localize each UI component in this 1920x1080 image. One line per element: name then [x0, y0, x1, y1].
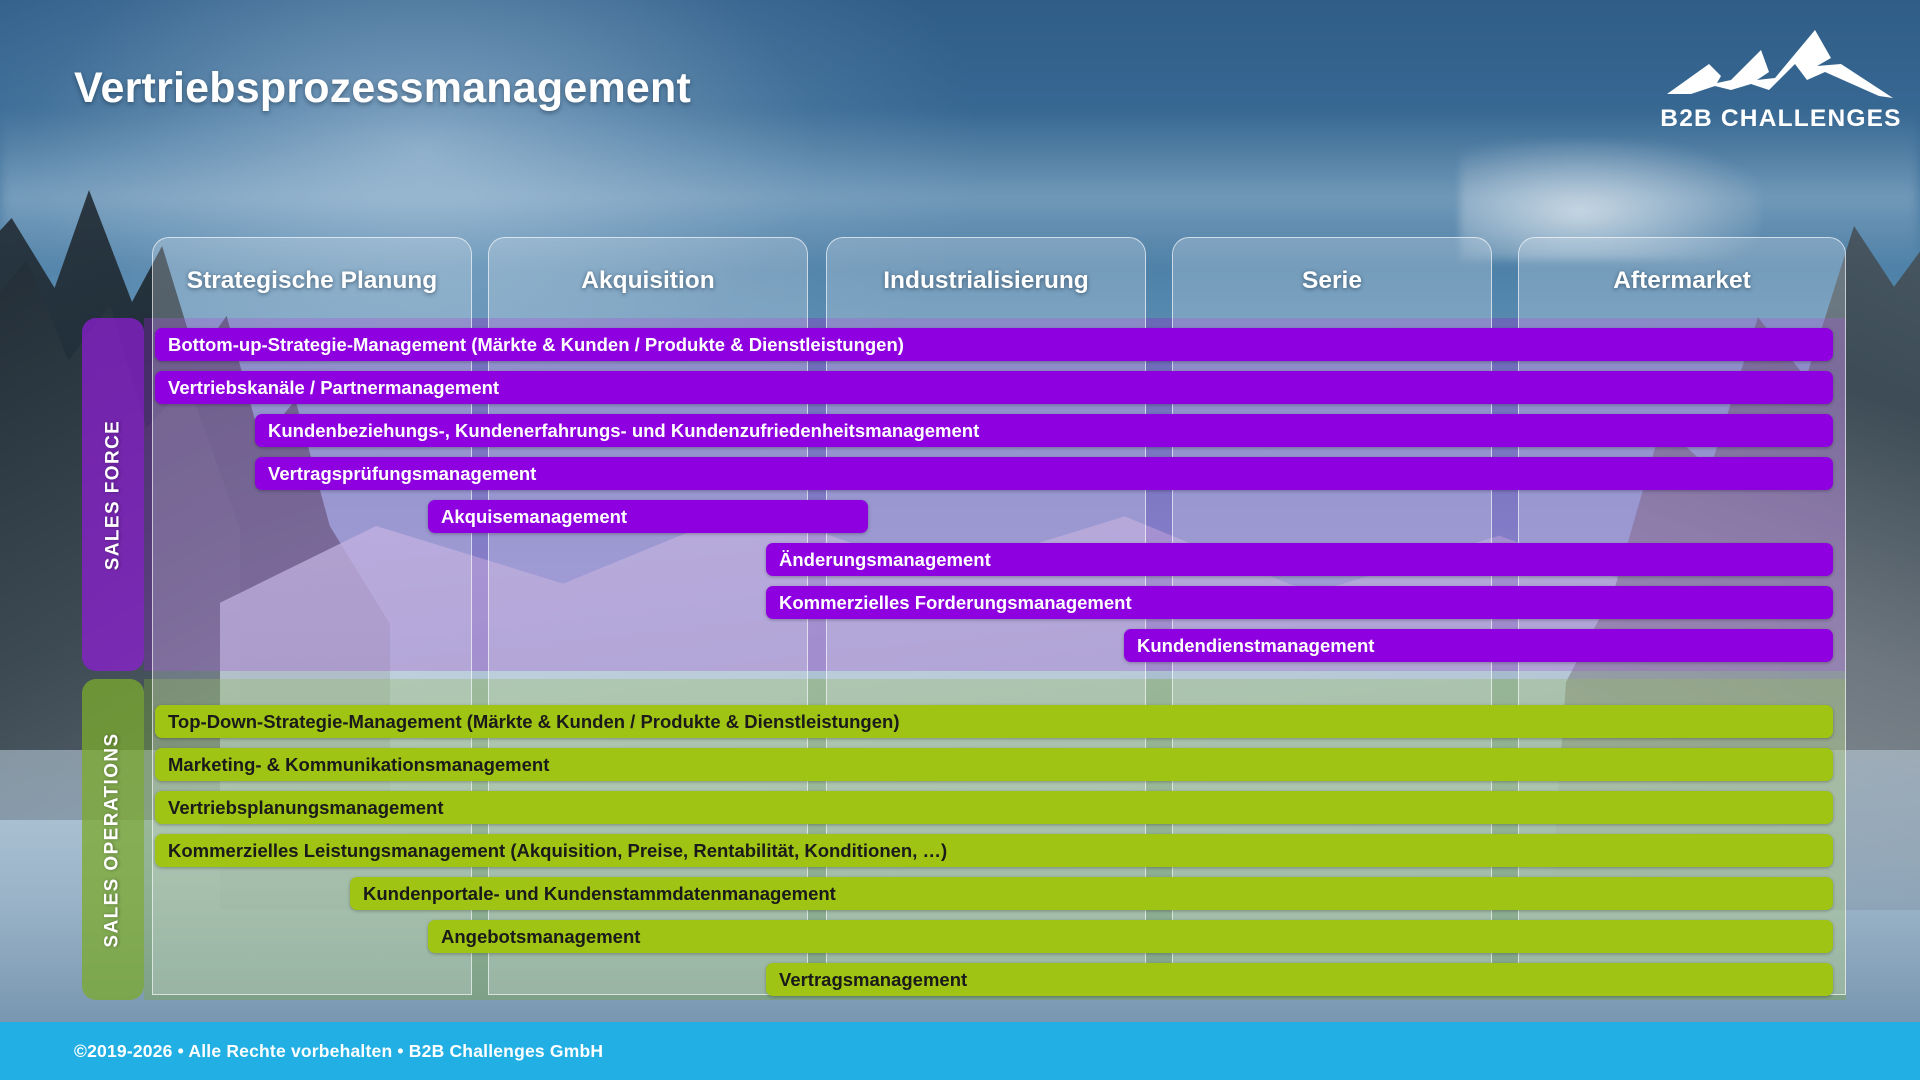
lane-label-sales-force: SALES FORCE [82, 318, 144, 671]
slide-root: Vertriebsprozessmanagement B2B CHALLENGE… [0, 0, 1920, 1080]
process-bar-sales-operations-0[interactable]: Top-Down-Strategie-Management (Märkte & … [155, 705, 1833, 738]
phase-column-label: Strategische Planung [153, 267, 471, 295]
phase-column-label: Akquisition [489, 267, 807, 295]
brand-logo: B2B CHALLENGES [1656, 28, 1906, 140]
page-title: Vertriebsprozessmanagement [74, 64, 691, 113]
brand-logo-text: B2B CHALLENGES [1660, 105, 1901, 133]
process-bar-sales-operations-1[interactable]: Marketing- & Kommunikationsmanagement [155, 748, 1833, 781]
process-bar-sales-operations-6[interactable]: Vertragsmanagement [766, 963, 1833, 996]
process-bar-sales-force-5[interactable]: Änderungsmanagement [766, 543, 1833, 576]
process-bar-sales-force-7[interactable]: Kundendienstmanagement [1124, 629, 1833, 662]
process-bar-sales-force-6[interactable]: Kommerzielles Forderungsmanagement [766, 586, 1833, 619]
copyright-text: ©2019-2026 • Alle Rechte vorbehalten • B… [74, 1041, 603, 1062]
process-bar-sales-operations-3[interactable]: Kommerzielles Leistungsmanagement (Akqui… [155, 834, 1833, 867]
process-bar-sales-force-3[interactable]: Vertragsprüfungsmanagement [255, 457, 1833, 490]
process-bar-sales-force-2[interactable]: Kundenbeziehungs-, Kundenerfahrungs- und… [255, 414, 1833, 447]
process-bar-sales-operations-2[interactable]: Vertriebsplanungsmanagement [155, 791, 1833, 824]
mountain-icon [1665, 28, 1897, 102]
phase-column-label: Industrialisierung [827, 267, 1145, 295]
lane-label-sales-operations: SALES OPERATIONS [82, 679, 144, 1000]
process-bar-sales-force-1[interactable]: Vertriebskanäle / Partnermanagement [155, 371, 1833, 404]
lane-label-sales-operations-text: SALES OPERATIONS [102, 732, 124, 947]
process-bar-sales-operations-5[interactable]: Angebotsmanagement [428, 920, 1833, 953]
process-bar-sales-force-0[interactable]: Bottom-up-Strategie-Management (Märkte &… [155, 328, 1833, 361]
phase-column-label: Aftermarket [1519, 267, 1845, 295]
footer-bar: ©2019-2026 • Alle Rechte vorbehalten • B… [0, 1022, 1920, 1080]
phase-column-label: Serie [1173, 267, 1491, 295]
process-bar-sales-operations-4[interactable]: Kundenportale- und Kundenstammdatenmanag… [350, 877, 1833, 910]
process-bar-sales-force-4[interactable]: Akquisemanagement [428, 500, 868, 533]
lane-label-sales-force-text: SALES FORCE [102, 419, 124, 570]
